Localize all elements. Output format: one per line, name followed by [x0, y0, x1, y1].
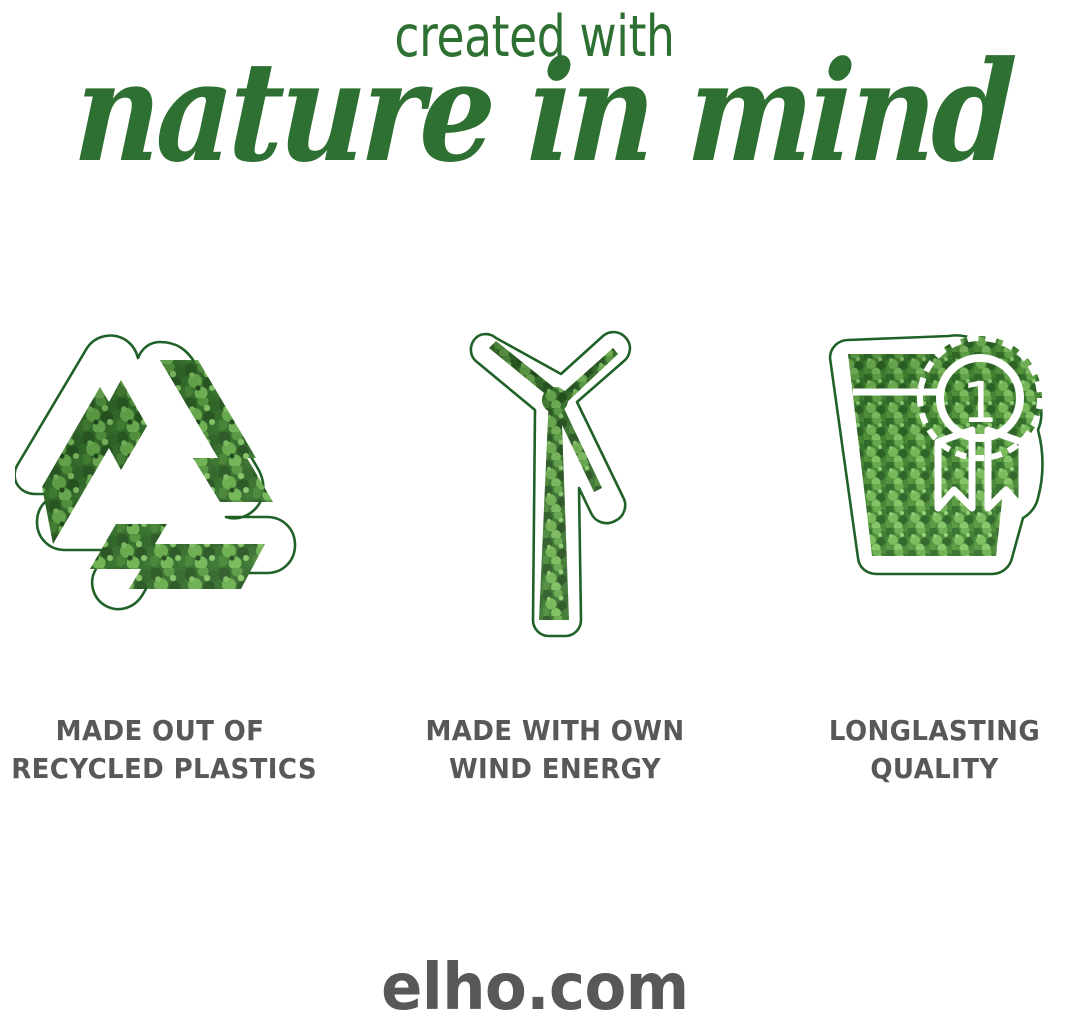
caption-line-1: MADE OUT OF — [11, 712, 309, 750]
caption-line-1: LONGLASTING — [809, 712, 1059, 750]
feature-icon-longlasting-quality: 1 — [800, 330, 1069, 660]
recycle-icon — [15, 330, 305, 630]
badge-number: 1 — [962, 371, 998, 436]
quality-badge-pot-icon: 1 — [820, 330, 1050, 580]
caption-longlasting-quality: LONGLASTING QUALITY — [809, 712, 1059, 788]
feature-icon-recycled-plastics — [0, 330, 320, 660]
caption-line-2: RECYCLED PLASTICS — [11, 750, 309, 788]
feature-icon-wind-energy — [400, 330, 710, 660]
footer: elho.com — [0, 952, 1069, 1024]
website-url[interactable]: elho.com — [381, 952, 689, 1024]
wind-turbine-icon — [465, 330, 645, 640]
caption-recycled-plastics: MADE OUT OF RECYCLED PLASTICS — [11, 712, 309, 788]
headline-block: created with nature in mind — [0, 0, 1069, 215]
promo-graphic-page: created with nature in mind — [0, 0, 1069, 1024]
caption-line-1: MADE WITH OWN — [411, 712, 699, 750]
caption-line-2: WIND ENERGY — [411, 750, 699, 788]
feature-caption-row: MADE OUT OF RECYCLED PLASTICS MADE WITH … — [0, 712, 1069, 812]
feature-icon-row: 1 — [0, 330, 1069, 660]
caption-line-2: QUALITY — [809, 750, 1059, 788]
headline-line-nature-in-mind: nature in mind — [72, 40, 998, 185]
caption-wind-energy: MADE WITH OWN WIND ENERGY — [411, 712, 699, 788]
